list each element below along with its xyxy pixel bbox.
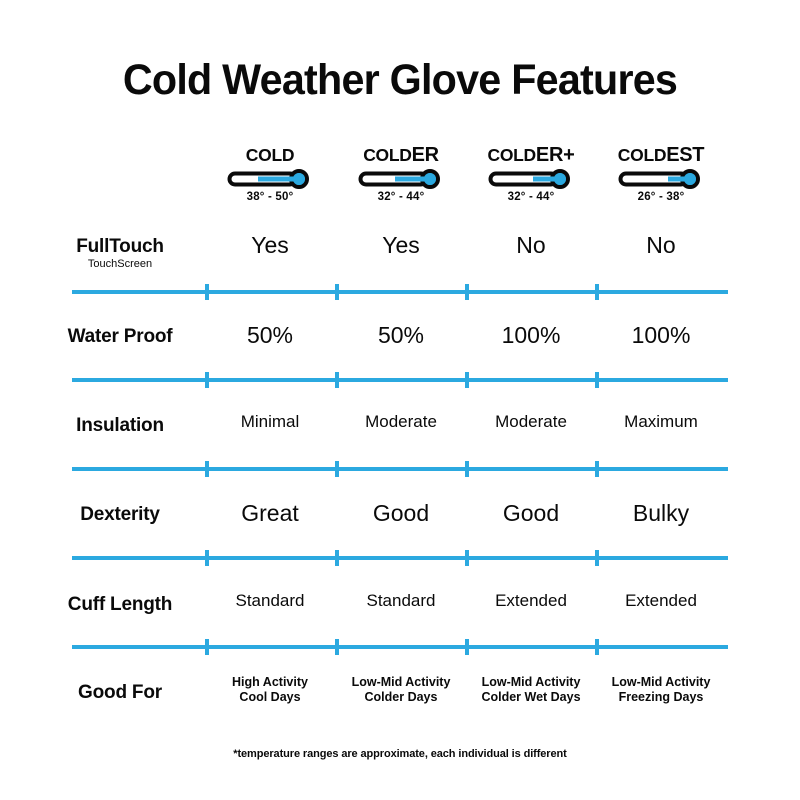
table-cell: Maximum <box>591 412 731 432</box>
divider-tick <box>595 639 599 655</box>
column-name-lead: COLD <box>363 145 411 165</box>
comparison-table: COLD 38° - 50° COLDER 32° - 44° <box>0 0 800 800</box>
row-label: Good For <box>40 682 200 703</box>
glove-features-comparison-infographic: Cold Weather Glove Features COLD 38° - 5… <box>0 0 800 800</box>
table-cell: Minimal <box>200 412 340 432</box>
column-temp-range: 38° - 50° <box>200 191 340 203</box>
divider-tick <box>205 461 209 477</box>
table-cell: 100% <box>461 322 601 348</box>
divider-tick <box>595 550 599 566</box>
table-cell: Good <box>331 500 471 526</box>
table-cell: 50% <box>331 322 471 348</box>
table-cell: Extended <box>591 591 731 611</box>
thermometer-icon <box>488 169 574 189</box>
row-label-main: FullTouch <box>40 236 200 257</box>
divider-tick <box>205 639 209 655</box>
column-header-label: COLDER <box>331 146 471 165</box>
table-cell: Good <box>461 500 601 526</box>
divider-tick <box>205 372 209 388</box>
divider-tick <box>335 461 339 477</box>
divider-tick <box>465 372 469 388</box>
table-cell: Great <box>200 500 340 526</box>
table-cell: No <box>461 232 601 258</box>
table-cell: Standard <box>331 591 471 611</box>
row-label-main: Water Proof <box>40 326 200 347</box>
table-cell: Bulky <box>591 500 731 526</box>
column-header-colder-plus: COLDER+ 32° - 44° <box>461 146 601 203</box>
column-header-row: COLD 38° - 50° COLDER 32° - 44° <box>0 146 800 208</box>
table-cell: High Activity Cool Days <box>200 675 340 705</box>
divider-tick <box>595 284 599 300</box>
table-cell: Low-Mid Activity Freezing Days <box>591 675 731 705</box>
table-cell: Low-Mid Activity Colder Days <box>331 675 471 705</box>
row-divider <box>72 467 728 471</box>
divider-tick <box>335 372 339 388</box>
table-cell: 50% <box>200 322 340 348</box>
table-cell: Moderate <box>331 412 471 432</box>
row-label: Dexterity <box>40 504 200 525</box>
column-header-colder: COLDER 32° - 44° <box>331 146 471 203</box>
row-label-sub: TouchScreen <box>40 258 200 271</box>
table-cell: Standard <box>200 591 340 611</box>
divider-tick <box>465 284 469 300</box>
row-label: Water Proof <box>40 326 200 347</box>
divider-tick <box>465 639 469 655</box>
column-header-coldest: COLDEST 26° - 38° <box>591 146 731 203</box>
column-name-tail: ER <box>412 144 439 166</box>
row-label-main: Insulation <box>40 415 200 436</box>
table-cell: Extended <box>461 591 601 611</box>
divider-tick <box>595 372 599 388</box>
table-cell: Yes <box>200 232 340 258</box>
column-header-label: COLD <box>200 146 340 165</box>
column-header-cold: COLD 38° - 50° <box>200 146 340 203</box>
divider-tick <box>335 639 339 655</box>
row-label-main: Dexterity <box>40 504 200 525</box>
divider-tick <box>335 550 339 566</box>
thermometer-icon <box>227 169 313 189</box>
divider-tick <box>205 284 209 300</box>
column-name-lead: COLD <box>488 145 536 165</box>
column-temp-range: 26° - 38° <box>591 191 731 203</box>
table-cell: Yes <box>331 232 471 258</box>
divider-tick <box>335 284 339 300</box>
row-divider <box>72 645 728 649</box>
table-cell: Moderate <box>461 412 601 432</box>
column-temp-range: 32° - 44° <box>331 191 471 203</box>
divider-tick <box>465 550 469 566</box>
table-cell: 100% <box>591 322 731 348</box>
footnote-text: *temperature ranges are approximate, eac… <box>0 748 800 760</box>
row-divider <box>72 556 728 560</box>
column-name-lead: COLD <box>618 145 666 165</box>
divider-tick <box>465 461 469 477</box>
row-label: FullTouch TouchScreen <box>40 236 200 271</box>
row-label-main: Good For <box>40 682 200 703</box>
column-temp-range: 32° - 44° <box>461 191 601 203</box>
table-cell: Low-Mid Activity Colder Wet Days <box>461 675 601 705</box>
row-divider <box>72 378 728 382</box>
column-header-label: COLDEST <box>591 146 731 165</box>
thermometer-icon <box>618 169 704 189</box>
row-divider <box>72 290 728 294</box>
row-label-main: Cuff Length <box>40 594 200 615</box>
column-name-lead: COLD <box>246 145 294 165</box>
row-label: Cuff Length <box>40 594 200 615</box>
column-name-tail: ER+ <box>536 144 575 166</box>
thermometer-icon <box>358 169 444 189</box>
column-header-label: COLDER+ <box>461 146 601 165</box>
row-label: Insulation <box>40 415 200 436</box>
divider-tick <box>205 550 209 566</box>
divider-tick <box>595 461 599 477</box>
column-name-tail: EST <box>666 144 704 166</box>
table-cell: No <box>591 232 731 258</box>
